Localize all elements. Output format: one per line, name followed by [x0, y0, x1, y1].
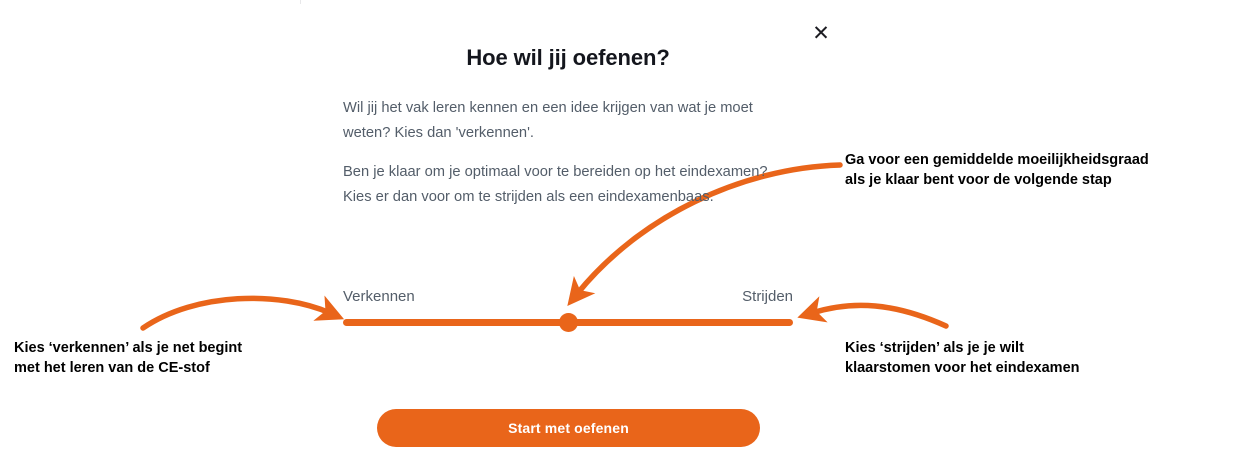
screenshot-canvas: ✕ Hoe wil jij oefenen? Wil jij het vak l… — [0, 0, 1256, 469]
annotation-difficulty-hint: Ga voor een gemiddelde moeilijkheidsgraa… — [845, 150, 1245, 190]
close-icon[interactable]: ✕ — [808, 20, 834, 46]
slider-thumb[interactable] — [559, 313, 578, 332]
arrow-to-verkennen — [143, 298, 330, 328]
slider-labels: Verkennen Strijden — [343, 288, 793, 310]
modal-description: Wil jij het vak leren kennen en een idee… — [343, 96, 798, 210]
modal-paragraph-1: Wil jij het vak leren kennen en een idee… — [343, 96, 798, 146]
difficulty-slider[interactable]: Verkennen Strijden — [343, 288, 793, 338]
annotation-strijden-hint: Kies ‘strijden’ als je je wilt klaarstom… — [845, 338, 1175, 378]
annotation-verkennen-hint: Kies ‘verkennen’ als je net begint met h… — [14, 338, 334, 378]
modal-edge-artifact — [300, 0, 301, 4]
arrow-to-strijden — [812, 305, 946, 326]
slider-label-strijden: Strijden — [742, 288, 793, 305]
start-practice-button[interactable]: Start met oefenen — [377, 409, 760, 447]
modal-paragraph-2: Ben je klaar om je optimaal voor te bere… — [343, 160, 798, 210]
page-title: Hoe wil jij oefenen? — [343, 45, 793, 71]
slider-label-verkennen: Verkennen — [343, 288, 415, 305]
